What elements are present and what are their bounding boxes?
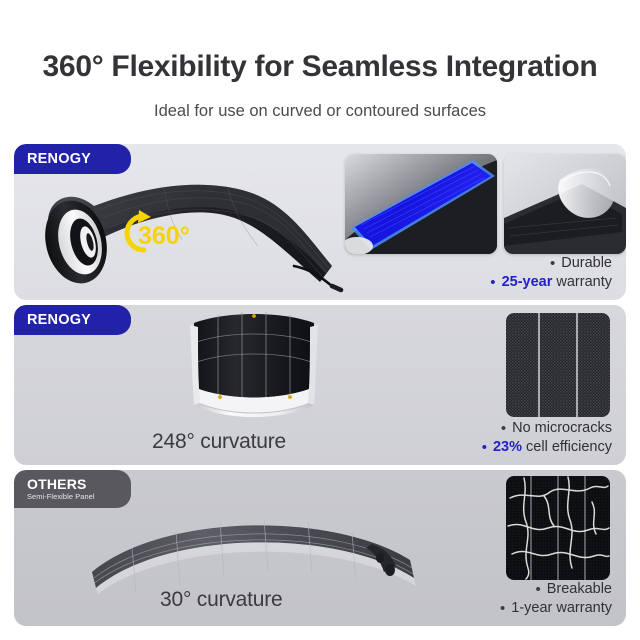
inset-cracked-solar-cell: [506, 476, 610, 580]
feature-row: • No microcracks: [482, 419, 612, 438]
svg-text:360°: 360°: [138, 222, 190, 250]
inset-blue-glow-panel: [345, 154, 497, 254]
feature-list-panel2: • No microcracks • 23% cell efficiency: [482, 419, 612, 457]
curved-solar-panel-30-illustration: [84, 498, 424, 598]
page-title: 360° Flexibility for Seamless Integratio…: [0, 50, 640, 84]
feature-rest: warranty: [552, 274, 612, 290]
brand-badge-label: RENOGY: [27, 312, 131, 328]
feature-row: • 25-year warranty: [490, 273, 612, 292]
feature-text: No microcracks: [512, 419, 612, 438]
curvature-label-30: 30° curvature: [160, 588, 283, 612]
feature-text: 1-year warranty: [511, 599, 612, 618]
feature-text: Durable: [561, 254, 612, 273]
feature-row: • 23% cell efficiency: [482, 438, 612, 457]
brand-badge-sublabel: Semi-Flexible Panel: [27, 492, 131, 502]
brand-badge-renogy: RENOGY: [14, 305, 131, 335]
panel-renogy-roll: 360°: [14, 144, 626, 300]
feature-list-panel3: • Breakable • 1-year warranty: [500, 580, 612, 618]
bullet-dot: •: [535, 582, 540, 597]
feature-row: • 1-year warranty: [500, 599, 612, 618]
feature-row: • Breakable: [500, 580, 612, 599]
feature-row: • Durable: [490, 254, 612, 273]
inset-intact-solar-cell: [506, 313, 610, 417]
feature-highlight: 25-year: [502, 274, 553, 290]
page-subtitle: Ideal for use on curved or contoured sur…: [0, 102, 640, 121]
bullet-dot: •: [482, 440, 487, 455]
feature-text: 25-year warranty: [502, 273, 612, 292]
feature-list-panel1: • Durable • 25-year warranty: [490, 254, 612, 292]
rotation-360-badge: 360°: [110, 206, 196, 258]
feature-highlight: 23%: [493, 439, 522, 455]
feature-rest: cell efficiency: [522, 439, 612, 455]
inset-translucent-film: [504, 154, 626, 254]
bullet-dot: •: [500, 601, 505, 616]
panel-renogy-curved: RENOGY • No microcracks • 23% cell effic…: [14, 305, 626, 465]
panel-others: OTHERS Semi-Flexible Panel • Breakable •…: [14, 470, 626, 626]
feature-text: 23% cell efficiency: [493, 438, 612, 457]
brand-badge-others: OTHERS Semi-Flexible Panel: [14, 470, 131, 508]
brand-badge-label: RENOGY: [27, 151, 131, 167]
curvature-label-248: 248° curvature: [152, 430, 286, 454]
brand-badge-label: OTHERS: [27, 477, 131, 492]
bullet-dot: •: [550, 256, 555, 271]
bullet-dot: •: [490, 275, 495, 290]
feature-text: Breakable: [547, 580, 612, 599]
infographic-page: 360° Flexibility for Seamless Integratio…: [0, 0, 640, 640]
brand-badge-renogy: RENOGY: [14, 144, 131, 174]
bullet-dot: •: [501, 421, 506, 436]
